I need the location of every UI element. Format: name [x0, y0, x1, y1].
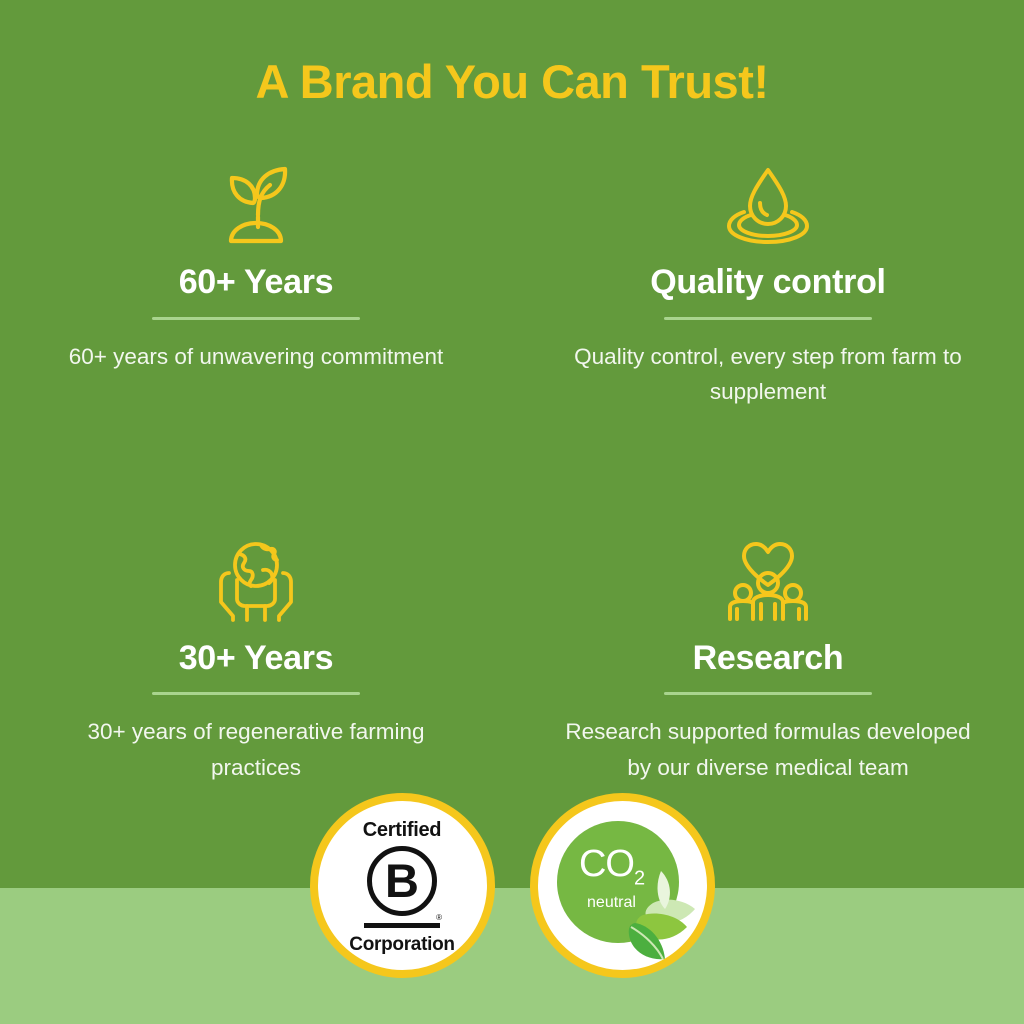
certified-b-corporation-badge: Certified B ® Corporation	[310, 793, 495, 978]
feature-description: 30+ years of regenerative farming practi…	[41, 714, 471, 785]
certification-badges: Certified B ® Corporation	[0, 793, 1024, 978]
feature-card-30-years: 30+ Years 30+ years of regenerative farm…	[0, 538, 512, 786]
feature-grid: 60+ Years 60+ years of unwavering commit…	[0, 162, 1024, 786]
feature-description: Research supported formulas developed by…	[553, 714, 983, 785]
co2-neutral-badge: CO2 neutral	[530, 793, 715, 978]
feature-row-top: 60+ Years 60+ years of unwavering commit…	[0, 162, 1024, 410]
feature-card-quality-control: Quality control Quality control, every s…	[512, 162, 1024, 410]
bcorp-b-mark: B	[367, 846, 437, 916]
seedling-icon	[217, 162, 295, 248]
feature-card-60-years: 60+ Years 60+ years of unwavering commit…	[0, 162, 512, 410]
feature-title: 30+ Years	[179, 641, 334, 677]
globe-in-hands-icon	[213, 538, 299, 624]
water-drop-icon	[720, 162, 816, 248]
brand-trust-infographic: A Brand You Can Trust! 60+ Years 60+ yea…	[0, 0, 1024, 1024]
feature-title: 60+ Years	[179, 265, 334, 301]
feature-description: Quality control, every step from farm to…	[553, 339, 983, 410]
feature-row-bottom: 30+ Years 30+ years of regenerative farm…	[0, 538, 1024, 786]
bcorp-corporation-label: Corporation	[349, 935, 454, 954]
feature-description: 60+ years of unwavering commitment	[69, 339, 444, 375]
feature-divider	[152, 692, 360, 695]
feature-divider	[664, 317, 872, 320]
feature-divider	[152, 317, 360, 320]
family-heart-icon	[720, 538, 816, 624]
bcorp-logo: Certified B ® Corporation	[318, 801, 487, 970]
feature-card-research: Research Research supported formulas dev…	[512, 538, 1024, 786]
leaves-icon	[613, 863, 701, 968]
bcorp-rule	[364, 923, 440, 928]
bcorp-certified-label: Certified	[363, 820, 441, 840]
co2-logo: CO2 neutral	[538, 801, 707, 970]
bcorp-rule-wrap: ®	[364, 923, 440, 928]
feature-divider	[664, 692, 872, 695]
page-title: A Brand You Can Trust!	[0, 56, 1024, 108]
registered-trademark-icon: ®	[436, 914, 442, 922]
feature-title: Research	[693, 641, 844, 677]
feature-title: Quality control	[650, 265, 885, 301]
